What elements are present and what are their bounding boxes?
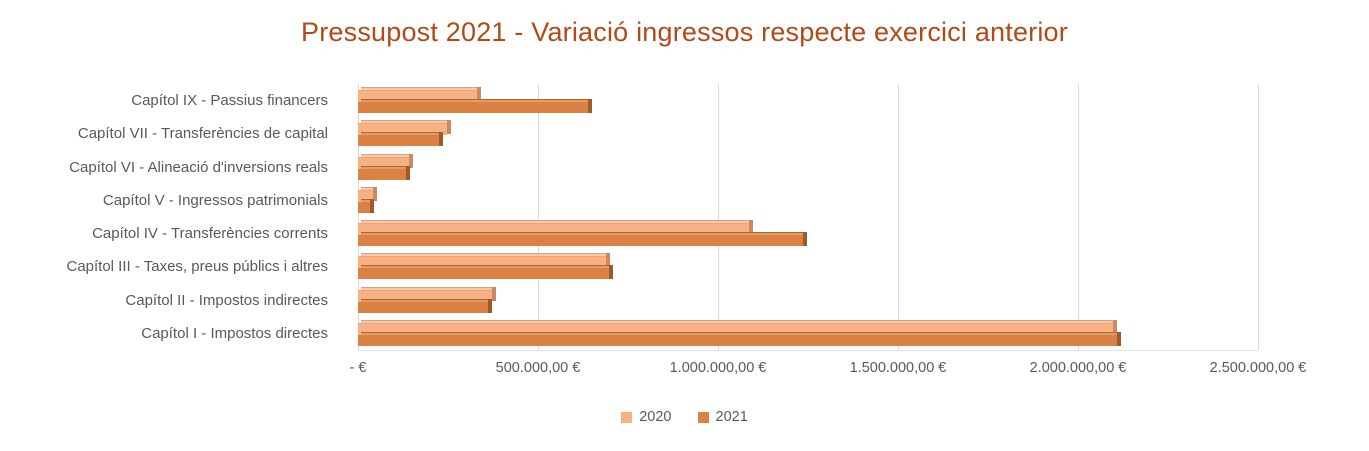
- x-axis-tick-labels: - €500.000,00 €1.000.000,00 €1.500.000,0…: [0, 360, 1369, 384]
- bar-rows: [358, 84, 1258, 350]
- bar-face: [358, 268, 609, 279]
- legend-swatch-icon: [621, 412, 632, 423]
- category-label: Capítol VI - Alineació d'inversions real…: [0, 151, 340, 184]
- category-label: Capítol IV - Transferències corrents: [0, 217, 340, 250]
- category-label: Capítol III - Taxes, preus públics i alt…: [0, 250, 340, 283]
- legend-label: 2021: [716, 409, 748, 425]
- legend-swatch-icon: [698, 412, 709, 423]
- x-tick-label: 2.500.000,00 €: [1210, 360, 1307, 376]
- bar-side-face: [439, 132, 443, 146]
- legend-label: 2020: [639, 409, 671, 425]
- bar-row: [358, 284, 1258, 317]
- bar-row: [358, 184, 1258, 217]
- bar-face: [358, 335, 1117, 346]
- bar-2021[interactable]: [358, 135, 439, 146]
- bar-face: [358, 169, 406, 180]
- bar-2021[interactable]: [358, 202, 370, 213]
- x-tick-label: 1.500.000,00 €: [850, 360, 947, 376]
- bar-face: [358, 135, 439, 146]
- bar-side-face: [1117, 332, 1121, 346]
- bar-row: [358, 217, 1258, 250]
- category-label: Capítol I - Impostos directes: [0, 317, 340, 350]
- category-label: Capítol VII - Transferències de capital: [0, 117, 340, 150]
- chart-legend: 20202021: [0, 409, 1369, 425]
- bar-side-face: [488, 299, 492, 313]
- bar-2021[interactable]: [358, 268, 609, 279]
- bar-row: [358, 151, 1258, 184]
- bar-row: [358, 250, 1258, 283]
- bar-2021[interactable]: [358, 235, 803, 246]
- bar-2021[interactable]: [358, 302, 488, 313]
- bar-face: [358, 302, 488, 313]
- bar-face: [358, 202, 370, 213]
- bar-2021[interactable]: [358, 102, 588, 113]
- plot-area: [358, 84, 1258, 350]
- category-label: Capítol II - Impostos indirectes: [0, 284, 340, 317]
- legend-item-2020[interactable]: 2020: [621, 409, 671, 425]
- bar-row: [358, 117, 1258, 150]
- y-axis-category-labels: Capítol IX - Passius financersCapítol VI…: [0, 84, 340, 350]
- x-tick-label: - €: [350, 360, 367, 376]
- category-label: Capítol V - Ingressos patrimonials: [0, 184, 340, 217]
- x-axis-line: [358, 350, 1258, 351]
- bar-side-face: [406, 166, 410, 180]
- bar-side-face: [803, 232, 807, 246]
- bar-face: [358, 102, 588, 113]
- x-tick-label: 500.000,00 €: [496, 360, 581, 376]
- x-tick-label: 1.000.000,00 €: [670, 360, 767, 376]
- legend-item-2021[interactable]: 2021: [698, 409, 748, 425]
- bar-face: [358, 235, 803, 246]
- bar-row: [358, 84, 1258, 117]
- category-label: Capítol IX - Passius financers: [0, 84, 340, 117]
- bar-2021[interactable]: [358, 335, 1117, 346]
- chart-container: Pressupost 2021 - Variació ingressos res…: [0, 0, 1369, 451]
- bar-row: [358, 317, 1258, 350]
- bar-side-face: [588, 99, 592, 113]
- bar-side-face: [370, 199, 374, 213]
- bar-2021[interactable]: [358, 169, 406, 180]
- x-tick-label: 2.000.000,00 €: [1030, 360, 1127, 376]
- bar-side-face: [609, 265, 613, 279]
- bar-side-face: [492, 287, 496, 301]
- bar-side-face: [447, 120, 451, 134]
- chart-title: Pressupost 2021 - Variació ingressos res…: [0, 17, 1369, 48]
- gridline-5: [1258, 84, 1259, 350]
